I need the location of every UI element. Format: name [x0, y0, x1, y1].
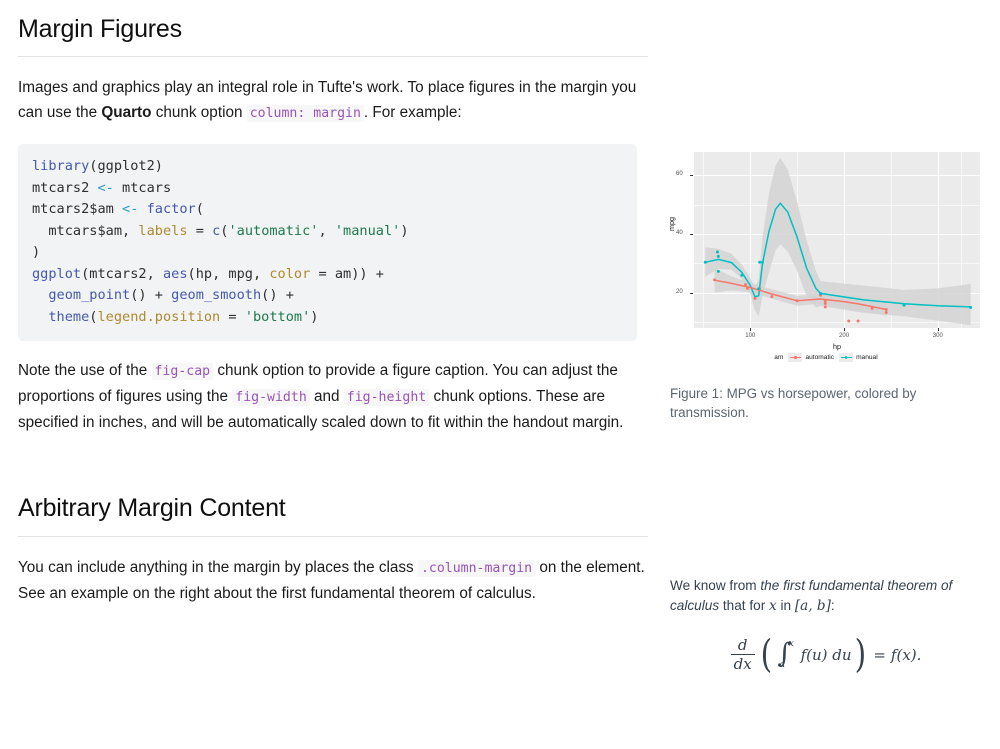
- code-token: =: [188, 223, 213, 239]
- page-title: Margin Figures: [18, 0, 648, 45]
- chart-legend-title: am: [774, 354, 783, 361]
- code-token: 'automatic': [228, 223, 318, 239]
- text-run: Note the use of the: [18, 362, 152, 379]
- chart-legend: am automaticmanual: [670, 353, 982, 362]
- inline-code-fig-width: fig-width: [232, 389, 309, 406]
- chart-x-tick-mark: [938, 328, 939, 331]
- math-close-paren: ): [854, 639, 866, 670]
- chart-data-point: [716, 251, 719, 254]
- code-token: geom_point: [48, 287, 130, 303]
- chart-data-point: [761, 261, 764, 264]
- code-token: [138, 201, 146, 217]
- tufte-document-page: Margin Figures Images and graphics play …: [0, 0, 1000, 749]
- math-variable-x: x: [769, 598, 777, 614]
- code-token: aes: [163, 266, 188, 282]
- code-token: ): [400, 223, 408, 239]
- inline-code-fig-height: fig-height: [344, 389, 429, 406]
- chart-legend-key-line: [790, 357, 801, 359]
- chart-y-tick-label: 60: [676, 171, 683, 177]
- chart-data-point: [758, 261, 761, 264]
- math-right-hand-side: f(x).: [891, 646, 921, 664]
- chart-x-tick-label: 300: [933, 333, 943, 339]
- chart-data-point: [824, 305, 827, 308]
- ggplot-chart-mpg-vs-hp: mpg hp am automaticmanual 20406010020030…: [670, 145, 982, 370]
- section-divider: [18, 536, 648, 537]
- code-token: mtcars2$am: [32, 201, 122, 217]
- chart-data-point: [819, 292, 822, 295]
- code-token: (ggplot2): [89, 158, 163, 174]
- chart-data-point: [744, 283, 747, 286]
- chart-data-point: [740, 274, 743, 277]
- chart-data-point: [770, 295, 773, 298]
- math-integral-sign: ∫xa: [777, 643, 791, 666]
- text-run: and: [310, 388, 344, 405]
- chart-x-tick-label: 200: [839, 333, 849, 339]
- chart-legend-item[interactable]: automatic: [788, 353, 834, 362]
- code-token: mtcars$am,: [32, 223, 138, 239]
- code-token: ): [310, 309, 318, 325]
- math-equals-sign: =: [873, 646, 886, 664]
- code-token: ): [32, 244, 40, 260]
- math-equation-row: d dx ( ∫xa f(u) du ) = f(x).: [731, 637, 922, 672]
- math-open-paren: (: [760, 639, 772, 670]
- chart-data-point: [717, 255, 720, 258]
- chart-y-tick-mark: [690, 175, 693, 176]
- section-spacer: [18, 435, 648, 479]
- chart-data-point: [704, 261, 707, 264]
- chart-data-point: [885, 311, 888, 314]
- chart-data-point: [847, 319, 850, 322]
- chart-data-point: [796, 299, 799, 302]
- code-token: color: [269, 266, 310, 282]
- chart-legend-key-line: [841, 357, 852, 359]
- chart-data-point: [969, 306, 972, 309]
- code-token: =: [220, 309, 245, 325]
- chart-curves-layer: [694, 152, 980, 328]
- chart-plot-panel: [694, 152, 980, 328]
- margin-note-text: We know from the first fundamental theor…: [670, 576, 982, 616]
- code-token: (mtcars2,: [81, 266, 163, 282]
- figure-caption: Figure 1: MPG vs horsepower, colored by …: [670, 384, 982, 422]
- margin-note-block: We know from the first fundamental theor…: [670, 576, 982, 672]
- code-token: geom_smooth: [171, 287, 261, 303]
- chart-legend-key: [788, 353, 802, 362]
- chart-y-tick-label: 40: [676, 230, 683, 236]
- code-token: <-: [97, 180, 113, 196]
- chart-y-tick-label: 20: [676, 289, 683, 295]
- chart-data-point: [717, 270, 720, 273]
- main-content-column: Margin Figures Images and graphics play …: [18, 0, 648, 606]
- text-run: We know from: [670, 578, 760, 593]
- code-token: (: [196, 201, 204, 217]
- chart-data-point: [857, 319, 860, 322]
- paragraph-arbitrary-margin: You can include anything in the margin b…: [18, 555, 648, 606]
- math-display-ftc: d dx ( ∫xa f(u) du ) = f(x).: [670, 635, 982, 672]
- chart-legend-item[interactable]: manual: [839, 353, 878, 362]
- section-divider: [18, 56, 648, 57]
- text-run: You can include anything in the margin b…: [18, 559, 418, 576]
- margin-figure-block: mpg hp am automaticmanual 20406010020030…: [670, 145, 982, 422]
- inline-code-column-margin: column: margin: [247, 105, 364, 122]
- inline-code-fig-cap: fig-cap: [152, 363, 214, 380]
- code-token: factor: [147, 201, 196, 217]
- chart-x-tick-label: 100: [745, 333, 755, 339]
- code-block-r[interactable]: library(ggplot2) mtcars2 <- mtcars mtcar…: [18, 144, 637, 341]
- paragraph-figcap-options: Note the use of the fig-cap chunk option…: [18, 358, 648, 435]
- code-token: labels: [138, 223, 187, 239]
- chart-data-point: [824, 299, 827, 302]
- text-run: :: [831, 598, 835, 613]
- text-run: in: [777, 598, 795, 613]
- code-token: 'manual': [335, 223, 400, 239]
- chart-data-point: [746, 287, 749, 290]
- code-token: 'bottom': [245, 309, 310, 325]
- chart-legend-key-point: [794, 356, 797, 359]
- chart-legend-label: manual: [856, 354, 878, 361]
- bold-quarto: Quarto: [101, 104, 151, 121]
- chart-legend-key: [839, 353, 853, 362]
- chart-data-point: [885, 308, 888, 311]
- math-integral-upper-limit: x: [788, 640, 793, 648]
- code-token: library: [32, 158, 89, 174]
- code-token: mtcars2: [32, 180, 97, 196]
- code-token: [32, 287, 48, 303]
- code-token: theme: [48, 309, 89, 325]
- code-token: [32, 309, 48, 325]
- math-fraction-ddx: d dx: [731, 637, 755, 672]
- code-token: ,: [318, 223, 334, 239]
- math-interval-ab: [a, b]: [795, 598, 831, 614]
- code-token: mtcars: [114, 180, 171, 196]
- chart-data-point: [903, 304, 906, 307]
- chart-y-axis-title: mpg: [667, 217, 676, 231]
- code-token: legend.position: [97, 309, 220, 325]
- inline-code-column-margin-class: .column-margin: [418, 560, 535, 577]
- code-source: library(ggplot2) mtcars2 <- mtcars mtcar…: [32, 158, 409, 325]
- chart-x-tick-mark: [844, 328, 845, 331]
- chart-x-tick-mark: [750, 328, 751, 331]
- code-token: () +: [130, 287, 171, 303]
- text-run: chunk option: [151, 104, 246, 121]
- chart-data-point: [753, 297, 756, 300]
- paragraph-margin-figures-intro: Images and graphics play an integral rol…: [18, 75, 648, 126]
- math-fraction-denominator: dx: [731, 654, 755, 672]
- chart-data-point: [871, 307, 874, 310]
- code-block-content: library(ggplot2) mtcars2 <- mtcars mtcar…: [32, 156, 623, 328]
- text-run: that for: [719, 598, 769, 613]
- chart-legend-label: automatic: [805, 354, 834, 361]
- code-token: (hp, mpg,: [188, 266, 270, 282]
- chart-data-point: [713, 278, 716, 281]
- text-run: . For example:: [364, 104, 462, 121]
- chart-y-tick-mark: [690, 293, 693, 294]
- math-fraction-numerator: d: [735, 637, 751, 654]
- chart-y-tick-mark: [690, 234, 693, 235]
- math-integrand: f(u) du: [801, 646, 852, 664]
- code-token: ggplot: [32, 266, 81, 282]
- chart-legend-key-point: [845, 356, 848, 359]
- chart-data-point: [824, 302, 827, 305]
- chart-x-axis-title: hp: [694, 342, 980, 351]
- section-title-arbitrary-margin-content: Arbitrary Margin Content: [18, 479, 648, 524]
- math-integral-lower-limit: a: [779, 661, 785, 669]
- code-token: = am)) +: [310, 266, 384, 282]
- code-token: () +: [261, 287, 294, 303]
- code-token: <-: [122, 201, 138, 217]
- chart-data-point: [757, 287, 760, 290]
